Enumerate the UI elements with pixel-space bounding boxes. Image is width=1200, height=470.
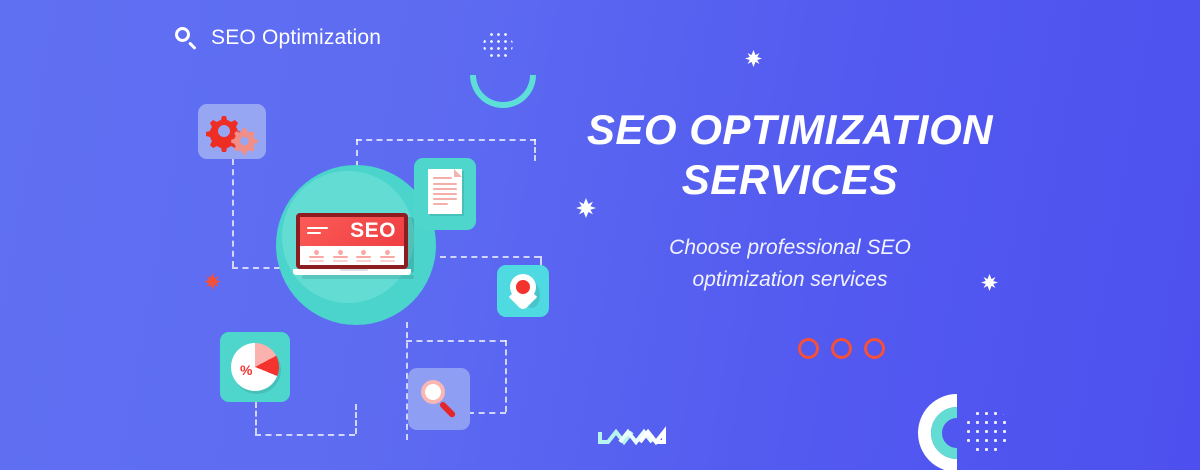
document-icon	[414, 158, 476, 230]
laptop-screen-title: SEO	[350, 220, 396, 241]
magnifier-icon	[408, 368, 470, 430]
laptop-screen-content	[300, 246, 404, 265]
connector-line-gears	[232, 159, 234, 267]
gears-icon-svg	[198, 104, 266, 159]
sparkle-white-right-icon	[981, 274, 998, 291]
page-title: SEO OPTIMIZATION SERVICES	[560, 105, 1020, 205]
pie-chart-percent-label: %	[240, 363, 252, 377]
connector-line-pie-v2	[355, 404, 357, 434]
subheadline-line-2: optimization services	[600, 264, 980, 296]
headline-line-1: SEO OPTIMIZATION	[560, 105, 1020, 155]
zigzag-icon	[598, 420, 672, 448]
brand-search-label[interactable]: SEO Optimization	[175, 26, 381, 50]
search-icon	[175, 27, 197, 49]
connector-line-gears-h	[232, 267, 280, 269]
gears-card[interactable]	[198, 104, 266, 159]
connector-line-top-right	[534, 139, 536, 161]
connector-line-pin	[440, 256, 540, 258]
pie-chart-card[interactable]: %	[220, 332, 290, 402]
connector-line-bottom-right-v	[505, 340, 507, 412]
magnifier-card[interactable]	[408, 368, 470, 430]
location-pin-icon	[497, 265, 549, 317]
connector-line-bottom-right-h	[468, 412, 506, 414]
connector-line-top	[356, 139, 536, 141]
location-pin-card[interactable]	[497, 265, 549, 317]
sparkle-white-top-icon	[745, 50, 762, 67]
ring-trio-icon	[798, 338, 885, 359]
dot-grid-top-icon	[474, 24, 522, 66]
headline-line-2: SERVICES	[560, 155, 1020, 205]
connector-line-pie-h	[255, 434, 355, 436]
connector-line-bottom-h	[406, 340, 506, 342]
document-card[interactable]	[414, 158, 476, 230]
sparkle-red-left-icon	[204, 273, 221, 290]
dot-grid-bottom-right-icon	[955, 400, 1019, 462]
laptop-screen: SEO	[300, 217, 404, 265]
brand-label: SEO Optimization	[211, 26, 381, 50]
pie-chart-icon: %	[220, 332, 290, 402]
subheadline-line-1: Choose professional SEO	[600, 232, 980, 264]
page-subtitle: Choose professional SEO optimization ser…	[600, 232, 980, 296]
connector-line-top-left	[356, 139, 358, 167]
gears-icon	[198, 104, 266, 159]
connector-line-pie-v	[255, 402, 257, 434]
seo-banner: SEO Optimization SEO	[0, 0, 1200, 470]
zigzag-svg	[598, 420, 672, 448]
laptop-illustration: SEO	[296, 213, 414, 285]
